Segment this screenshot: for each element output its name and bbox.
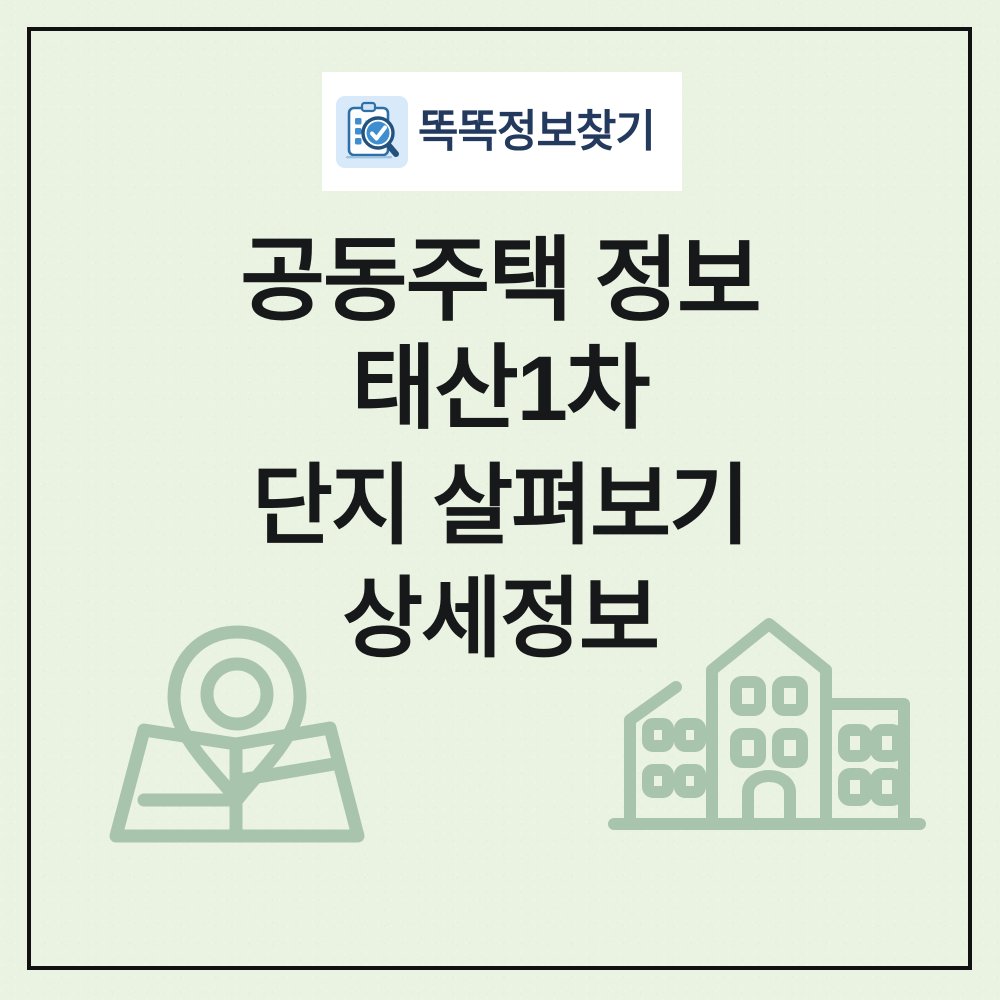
poster-canvas: 똑똑정보찾기 공동주택 정보 태산1차 단지 살펴보기 상세정보 xyxy=(0,0,1000,1000)
title-line-2-complex-name: 태산1차 xyxy=(0,331,1000,449)
brand-logo-text: 똑똑정보찾기 xyxy=(418,110,655,154)
title-line-3: 단지 살펴보기 xyxy=(0,449,1000,563)
brand-logo-badge: 똑똑정보찾기 xyxy=(322,72,682,191)
title-line-1: 공동주택 정보 xyxy=(0,232,1000,331)
title-line-4: 상세정보 xyxy=(0,564,1000,673)
page-title: 공동주택 정보 태산1차 단지 살펴보기 상세정보 xyxy=(0,232,1000,673)
clipboard-magnifier-icon xyxy=(336,96,408,168)
